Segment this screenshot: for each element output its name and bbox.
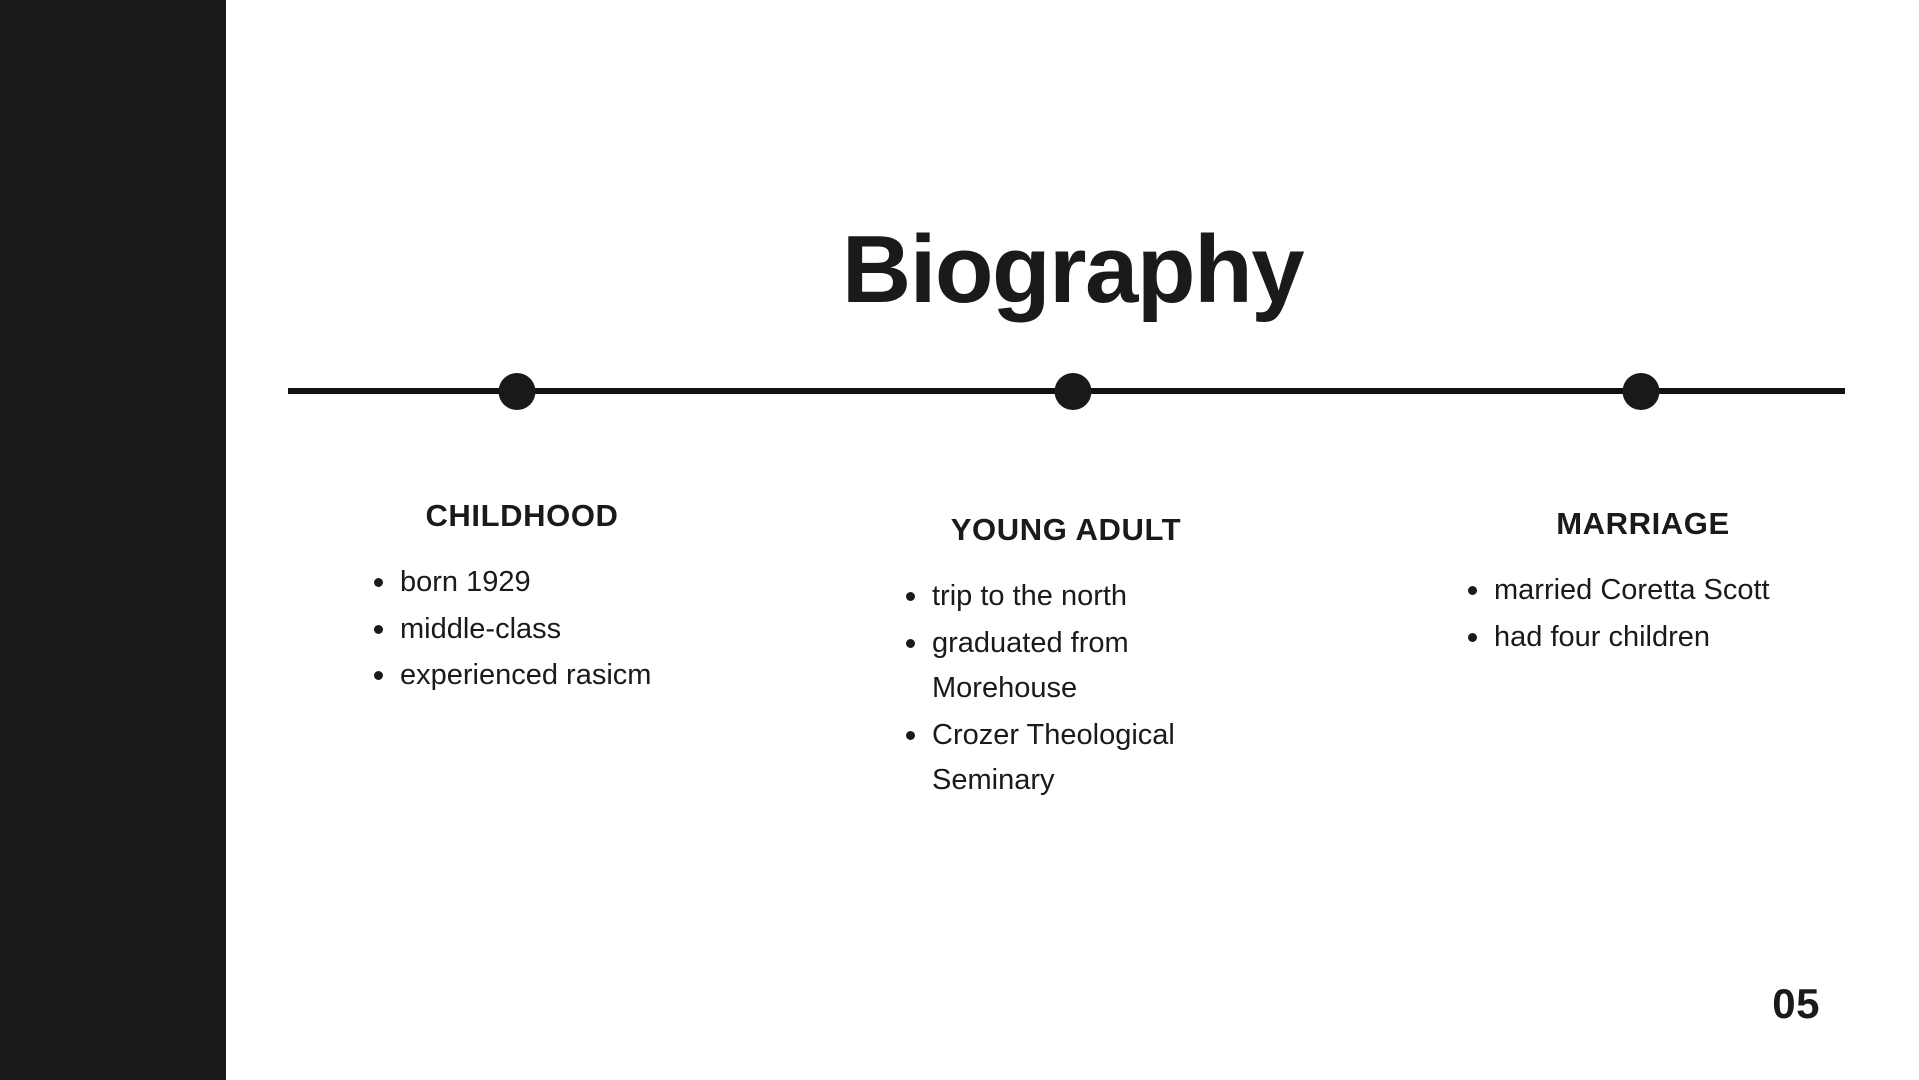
timeline-column-childhood: CHILDHOOD born 1929 middle-class experie… <box>368 498 698 700</box>
timeline-node-1[interactable] <box>498 373 535 410</box>
list-item: had four children <box>1462 615 1842 661</box>
list-item: born 1929 <box>368 560 698 606</box>
list-item: middle-class <box>368 607 698 653</box>
page-number: 05 <box>1700 980 1820 1028</box>
timeline-column-marriage: MARRIAGE married Coretta Scott had four … <box>1462 506 1842 661</box>
column-heading-marriage: MARRIAGE <box>1462 506 1842 542</box>
column-list-childhood: born 1929 middle-class experienced rasic… <box>368 560 698 699</box>
list-item: experienced rasicm <box>368 653 698 699</box>
column-list-marriage: married Coretta Scott had four children <box>1462 568 1842 660</box>
timeline-column-young-adult: YOUNG ADULT trip to the north graduated … <box>900 512 1240 805</box>
list-item: married Coretta Scott <box>1462 568 1842 614</box>
list-item: graduated from Morehouse <box>900 621 1240 712</box>
timeline-node-2[interactable] <box>1054 373 1091 410</box>
list-item: trip to the north <box>900 574 1240 620</box>
slide-canvas: Biography CHILDHOOD born 1929 middle-cla… <box>0 0 1919 1080</box>
column-heading-childhood: CHILDHOOD <box>368 498 698 534</box>
page-title: Biography <box>226 222 1919 318</box>
column-list-young-adult: trip to the north graduated from Morehou… <box>900 574 1240 804</box>
timeline <box>288 388 1845 394</box>
left-accent-bar <box>0 0 226 1080</box>
column-heading-young-adult: YOUNG ADULT <box>900 512 1240 548</box>
list-item: Crozer Theological Seminary <box>900 713 1240 804</box>
timeline-node-3[interactable] <box>1623 373 1660 410</box>
